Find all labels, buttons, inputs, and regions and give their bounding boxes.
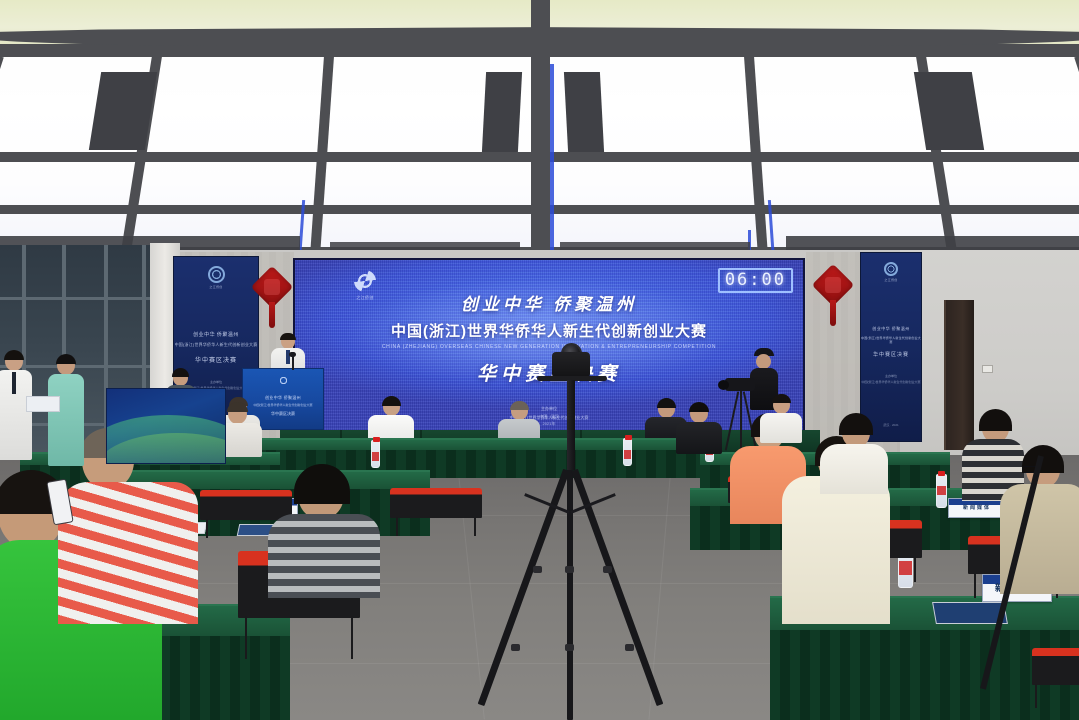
- tripod-lock-knob[interactable]: [625, 644, 634, 651]
- papers-on-left-desk: [26, 396, 60, 412]
- banner-right-organizer-name: 中国(浙江)世界华侨华人新生代创新创业大赛: [861, 380, 921, 384]
- banner-right-region-title: 华中赛区决赛: [861, 351, 921, 358]
- attendee-striped-shirt-center: [268, 470, 382, 566]
- chair-back: [390, 488, 482, 518]
- person-torso: [0, 370, 32, 460]
- person-torso: [760, 413, 802, 443]
- person-hair: [382, 396, 401, 406]
- person-torso: [676, 422, 722, 454]
- podium-mic-head: [289, 352, 296, 357]
- person-hair: [294, 464, 350, 504]
- tripod-lock-knob[interactable]: [565, 644, 574, 651]
- podium-logo-icon: [278, 375, 289, 386]
- knot-tassel: [269, 302, 275, 328]
- chair-back: [1032, 648, 1079, 685]
- banner-right: 之江侨创 创业中华 侨聚温州 中国(浙江)世界华侨华人新生代创新创业大赛 华中赛…: [860, 252, 922, 442]
- chinese-knot-right: [818, 270, 848, 300]
- attendee-white-shirt-back: [760, 396, 802, 442]
- person-hair: [56, 354, 76, 364]
- person-torso: [268, 514, 380, 598]
- chair-legs: [1035, 684, 1079, 708]
- banner-right-organizer-label: 主办单位: [861, 374, 921, 378]
- person-torso: [58, 482, 198, 624]
- ceiling-beam-center: [531, 0, 550, 262]
- videographer-head: [756, 354, 771, 369]
- water-bottle: [936, 474, 947, 508]
- banner-right-slogan: 创业中华 侨聚温州: [861, 326, 921, 332]
- podium-microphone: [292, 356, 294, 370]
- venue-photo: 之江侨创 创业中华 侨聚温州 中国(浙江)世界华侨华人新生代创新创业大赛 华中赛…: [0, 0, 1079, 720]
- tripod-leg-center: [567, 470, 573, 720]
- banner-left-region-title: 华中赛区决赛: [174, 355, 258, 364]
- led-cursive-slogan: 创业中华 侨聚温州: [295, 290, 803, 315]
- led-english-title: CHINA (ZHEJIANG) OVERSEAS CHINESE NEW GE…: [295, 344, 803, 350]
- namecard-label: 新闻媒体: [949, 504, 1005, 517]
- banner-left-logo-subtext: 之江侨创: [174, 285, 258, 289]
- person-hair: [172, 368, 189, 377]
- chair-legs: [396, 517, 477, 536]
- person-torso: [782, 476, 890, 624]
- person-torso: [48, 374, 84, 466]
- tripod-lock-knob[interactable]: [565, 566, 574, 573]
- water-bottle: [371, 440, 380, 468]
- banner-right-main-title: 中国(浙江)世界华侨华人新生代创新创业大赛: [861, 336, 921, 344]
- banner-left-main-title: 中国(浙江)世界华侨华人新生代创新创业大赛: [174, 342, 258, 348]
- swirl-emblem-logo-icon: [354, 270, 376, 292]
- ceiling-recess-right-outer: [914, 72, 984, 150]
- ceiling: [0, 0, 1079, 262]
- tripod-lock-knob[interactable]: [603, 566, 612, 573]
- person-hair: [227, 402, 248, 412]
- tripod-lock-knob[interactable]: [533, 566, 542, 573]
- person-necktie: [12, 372, 16, 394]
- knot-tassel: [830, 300, 836, 326]
- person-hair: [689, 402, 709, 412]
- banner-left-logo-icon: [208, 266, 225, 283]
- banner-right-logo-subtext: 之江侨创: [861, 278, 921, 282]
- floor-banner-left: [106, 388, 226, 464]
- chair-left-3[interactable]: [390, 488, 482, 536]
- person-hair: [657, 398, 676, 408]
- ceiling-recess-left-inner: [482, 72, 522, 152]
- person-hair: [4, 350, 24, 360]
- banner-left-slogan: 创业中华 侨聚温州: [174, 331, 258, 338]
- namecard-right-r2: 新闻媒体: [948, 498, 1006, 518]
- foreground-tripod[interactable]: [497, 352, 647, 720]
- led-main-title: 中国(浙江)世界华侨华人新生代创新创业大赛: [295, 320, 803, 341]
- chair-legs: [245, 616, 352, 659]
- chair-right-4[interactable]: [1032, 648, 1079, 708]
- video-camera-lens-icon: [718, 380, 729, 390]
- ceiling-recess-right-inner: [564, 72, 604, 152]
- person-torso: [820, 444, 888, 494]
- chinese-knot-left: [257, 272, 287, 302]
- camera-body: [552, 352, 590, 378]
- attendee-back-right-dark: [676, 404, 722, 452]
- ceiling-blue-strip-center: [550, 64, 554, 262]
- tripod-center-column: [567, 380, 575, 470]
- attendee-white-shirt-right: [820, 418, 890, 488]
- door-sign: [982, 365, 993, 373]
- banner-right-logo-icon: [884, 262, 898, 276]
- video-camera-body: [725, 378, 755, 391]
- speaker-hair: [280, 333, 296, 340]
- person-hair: [772, 394, 791, 403]
- tripod-lock-knob[interactable]: [511, 644, 520, 651]
